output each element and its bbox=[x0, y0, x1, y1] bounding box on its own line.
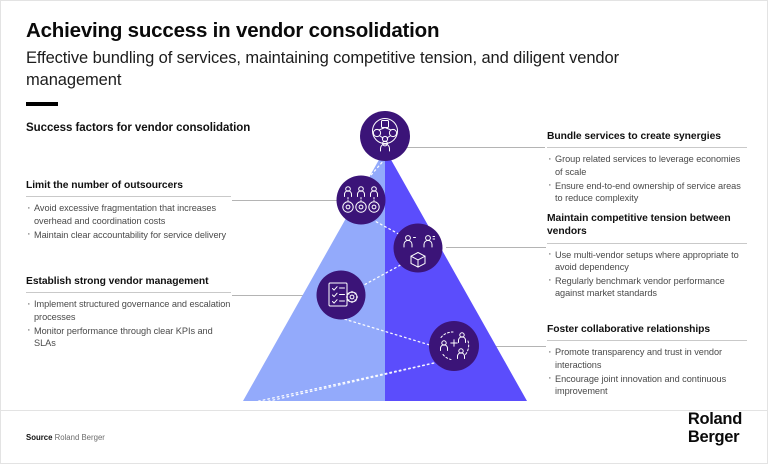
block-bullet-list: Promote transparency and trust in vendor… bbox=[547, 346, 747, 397]
block-title: Maintain competitive tension between ven… bbox=[547, 212, 747, 239]
block-divider bbox=[547, 243, 747, 244]
page-subtitle: Effective bundling of services, maintain… bbox=[26, 48, 626, 91]
block-limit-the-number-of-outsourcers: Limit the number of outsourcers Avoid ex… bbox=[26, 179, 231, 242]
list-item: Avoid excessive fragmentation that incre… bbox=[26, 202, 231, 227]
logo-line-2: Berger bbox=[688, 429, 742, 447]
icon-node-vendor[interactable] bbox=[317, 271, 366, 320]
section-lead-label: Success factors for vendor consolidation bbox=[26, 122, 250, 134]
list-item: Maintain clear accountability for servic… bbox=[26, 229, 231, 241]
list-item: Monitor performance through clear KPIs a… bbox=[26, 325, 231, 350]
list-item: Regularly benchmark vendor performance a… bbox=[547, 275, 747, 300]
footer-divider bbox=[1, 410, 768, 411]
block-divider bbox=[26, 292, 231, 293]
block-bullet-list: Implement structured governance and esca… bbox=[26, 298, 231, 349]
logo-line-1: Roland bbox=[688, 411, 742, 429]
block-title: Establish strong vendor management bbox=[26, 275, 231, 288]
icon-node-tension[interactable] bbox=[394, 224, 443, 273]
header: Achieving success in vendor consolidatio… bbox=[26, 19, 726, 91]
block-divider bbox=[26, 196, 231, 197]
block-divider bbox=[547, 340, 747, 341]
block-foster-collaborative-relationships: Foster collaborative relationships Promo… bbox=[547, 323, 747, 399]
block-establish-strong-vendor-management: Establish strong vendor management Imple… bbox=[26, 275, 231, 351]
block-bundle-services-to-create-synergies: Bundle services to create synergies Grou… bbox=[547, 130, 747, 206]
block-maintain-competitive-tension-between-vendors: Maintain competitive tension between ven… bbox=[547, 212, 747, 301]
block-divider bbox=[547, 147, 747, 148]
page-title: Achieving success in vendor consolidatio… bbox=[26, 19, 726, 43]
block-bullet-list: Avoid excessive fragmentation that incre… bbox=[26, 202, 231, 240]
list-item: Group related services to leverage econo… bbox=[547, 153, 747, 178]
block-bullet-list: Group related services to leverage econo… bbox=[547, 153, 747, 204]
icon-node-limit[interactable] bbox=[337, 176, 386, 225]
source-note: Source Roland Berger bbox=[26, 433, 105, 442]
source-label: Source bbox=[26, 433, 52, 442]
list-item: Implement structured governance and esca… bbox=[26, 298, 231, 323]
block-bullet-list: Use multi-vendor setups where appropriat… bbox=[547, 249, 747, 300]
slide-canvas: Achieving success in vendor consolidatio… bbox=[0, 0, 768, 464]
block-title: Bundle services to create synergies bbox=[547, 130, 747, 143]
block-title: Limit the number of outsourcers bbox=[26, 179, 231, 192]
source-value: Roland Berger bbox=[55, 433, 105, 442]
list-item: Ensure end-to-end ownership of service a… bbox=[547, 180, 747, 205]
block-title: Foster collaborative relationships bbox=[547, 323, 747, 336]
list-item: Promote transparency and trust in vendor… bbox=[547, 346, 747, 371]
icon-node-foster[interactable] bbox=[429, 321, 479, 371]
list-item: Use multi-vendor setups where appropriat… bbox=[547, 249, 747, 274]
icon-node-bundle[interactable] bbox=[360, 111, 410, 161]
pyramid-diagram bbox=[231, 111, 541, 411]
accent-rule bbox=[26, 102, 58, 106]
roland-berger-logo: Roland Berger bbox=[688, 411, 742, 447]
list-item: Encourage joint innovation and continuou… bbox=[547, 373, 747, 398]
